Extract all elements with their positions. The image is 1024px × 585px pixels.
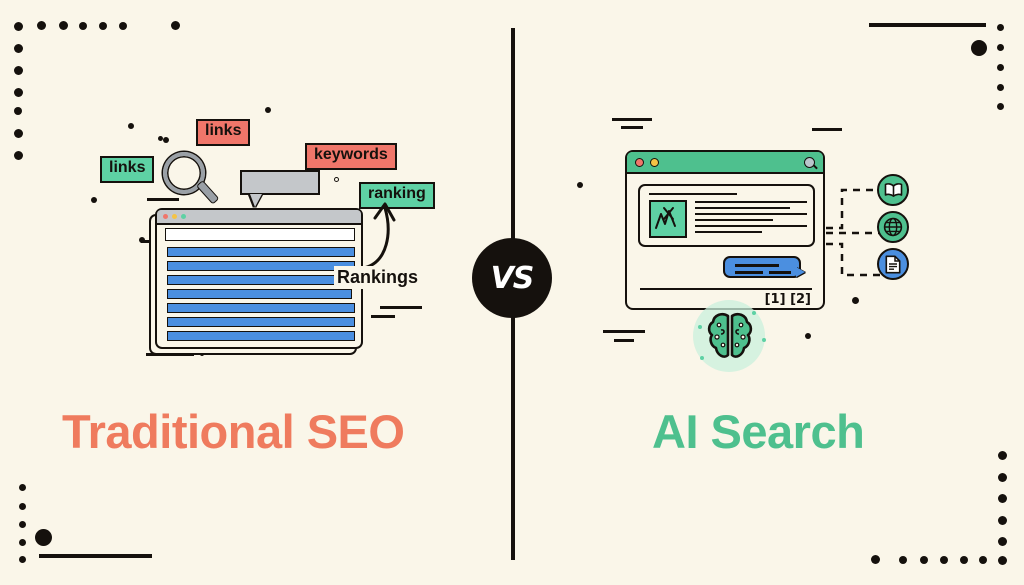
infographic-canvas: links links keywords ranking bbox=[0, 0, 1024, 585]
document-icon[interactable] bbox=[877, 248, 909, 280]
seo-result-row[interactable] bbox=[167, 261, 355, 271]
seo-browser-window[interactable] bbox=[155, 208, 363, 349]
seo-result-row[interactable] bbox=[167, 331, 355, 341]
ai-window-titlebar bbox=[627, 152, 823, 174]
ai-browser-window[interactable]: [1] [2] bbox=[625, 150, 825, 310]
ai-answer-bubble[interactable] bbox=[723, 256, 801, 278]
seo-result-row[interactable] bbox=[167, 303, 355, 313]
seo-result-row[interactable] bbox=[167, 247, 355, 257]
traffic-light-yellow-icon[interactable] bbox=[172, 214, 177, 219]
rankings-label: Rankings bbox=[334, 266, 421, 289]
speech-bubble-icon bbox=[240, 170, 320, 195]
globe-icon[interactable] bbox=[877, 211, 909, 243]
tag-links-red[interactable]: links bbox=[196, 119, 250, 146]
traffic-light-red-icon[interactable] bbox=[635, 158, 644, 167]
seo-result-row[interactable] bbox=[167, 289, 352, 299]
vs-badge: VS bbox=[472, 238, 552, 318]
tag-keywords[interactable]: keywords bbox=[305, 143, 397, 170]
seo-window-titlebar bbox=[157, 210, 361, 225]
seo-address-bar[interactable] bbox=[165, 228, 355, 241]
brain-icon bbox=[706, 310, 754, 362]
traffic-light-green-icon[interactable] bbox=[181, 214, 186, 219]
vs-label: VS bbox=[491, 261, 534, 296]
chart-thumbnail-icon bbox=[649, 200, 687, 238]
book-icon[interactable] bbox=[877, 174, 909, 206]
curved-up-arrow-icon bbox=[358, 200, 404, 270]
traffic-light-red-icon[interactable] bbox=[163, 214, 168, 219]
page-title-ai-search: AI Search bbox=[652, 404, 864, 459]
tag-links-green[interactable]: links bbox=[100, 156, 154, 183]
seo-results-list bbox=[167, 247, 355, 341]
ai-divider-line bbox=[640, 288, 812, 290]
magnifier-icon bbox=[163, 152, 219, 214]
page-title-traditional-seo: Traditional SEO bbox=[62, 404, 404, 459]
ai-card-heading-line bbox=[649, 193, 737, 195]
traffic-light-yellow-icon[interactable] bbox=[650, 158, 659, 167]
ai-result-card[interactable] bbox=[638, 184, 815, 247]
search-icon[interactable] bbox=[804, 157, 815, 168]
seo-result-row[interactable] bbox=[167, 275, 355, 285]
citation-markers[interactable]: [1] [2] bbox=[765, 292, 811, 307]
ai-card-text-lines bbox=[695, 201, 807, 233]
seo-result-row[interactable] bbox=[167, 317, 355, 327]
